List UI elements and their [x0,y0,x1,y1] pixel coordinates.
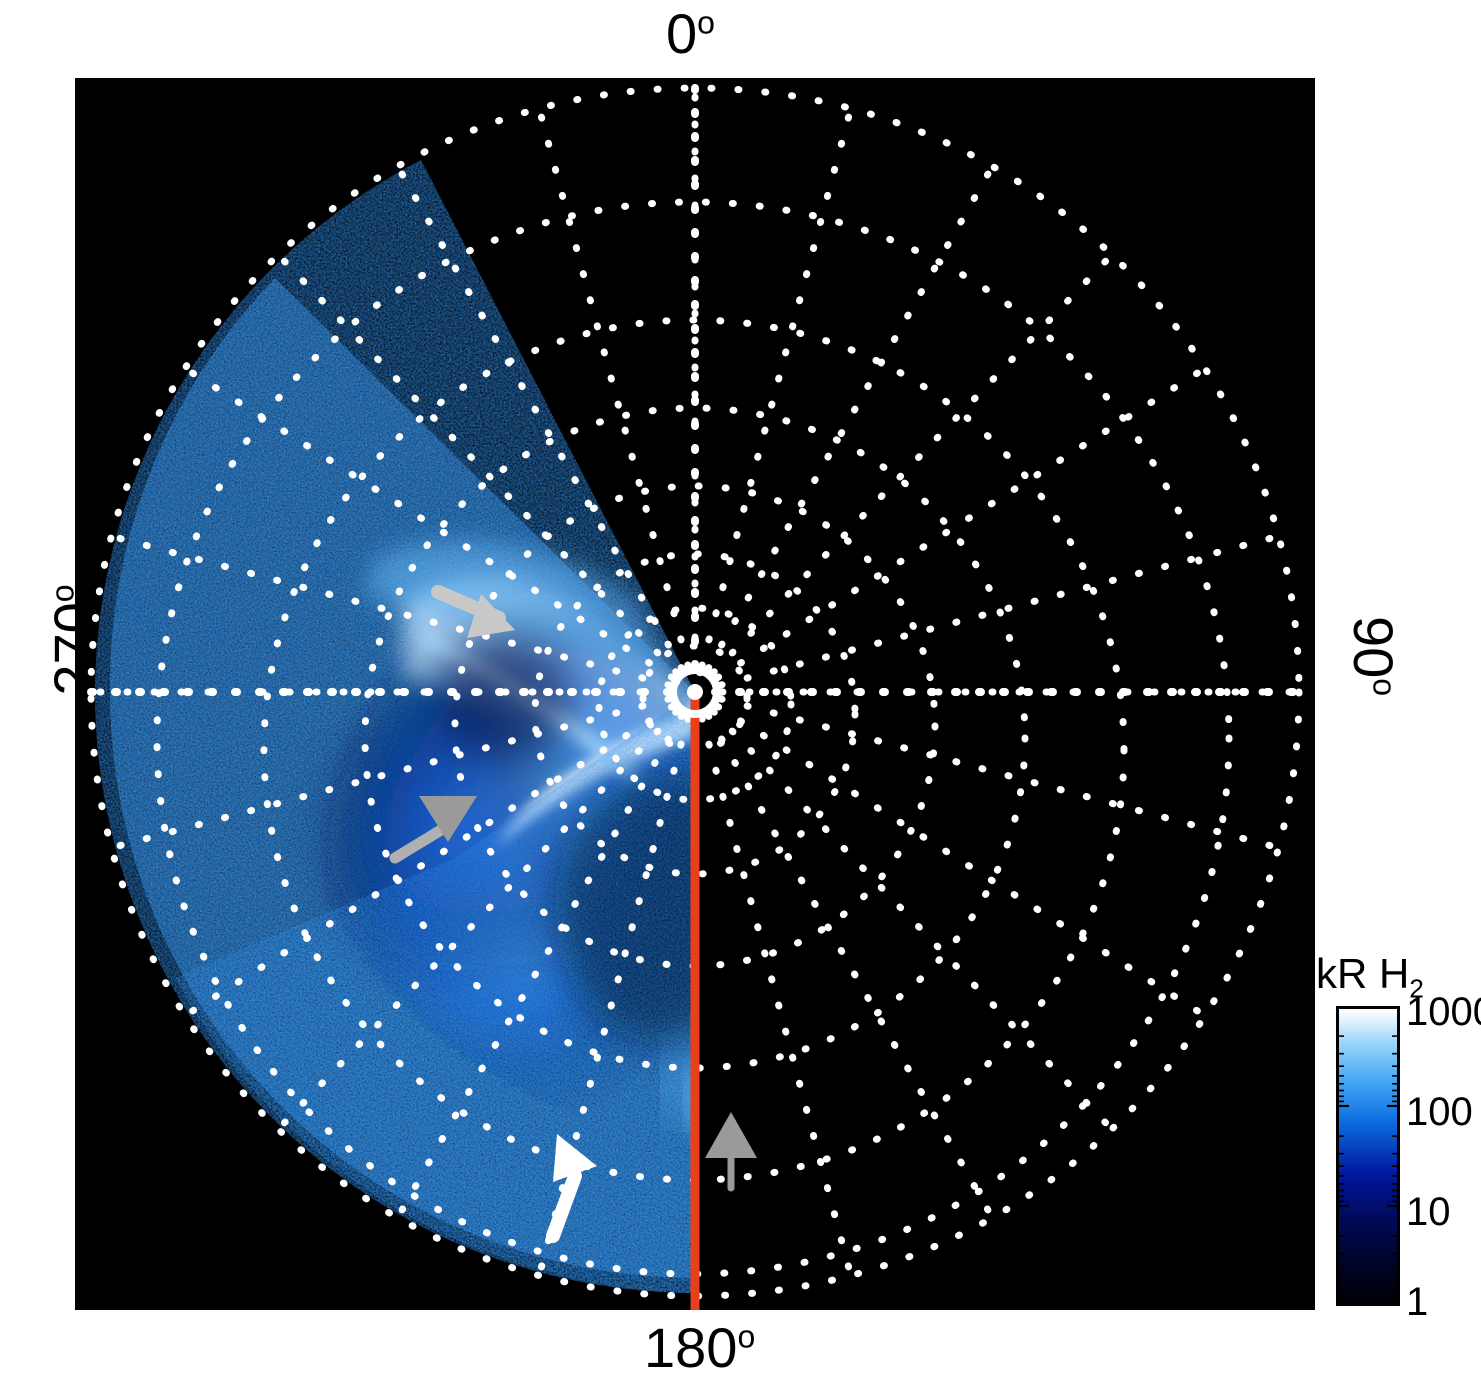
figure-root: 0o 180o 270o 90o [0,0,1481,1386]
polar-plot-panel [75,78,1315,1310]
emission-field [95,158,1145,1293]
axis-label-180: 180o [644,1320,755,1376]
colorbar-ticks [1336,1006,1400,1306]
colorbar-tick-label-1000: 1000 [1406,990,1481,1035]
colorbar-tick-label-1: 1 [1406,1280,1428,1325]
colorbar-tick-label-10: 10 [1406,1190,1451,1235]
colorbar-tick-label-100: 100 [1406,1090,1473,1135]
axis-label-0: 0o [666,6,715,62]
bright-crescent-arc [695,938,1050,1131]
polar-plot-canvas [75,78,1315,1310]
axis-label-90: 90o [1345,591,1401,721]
